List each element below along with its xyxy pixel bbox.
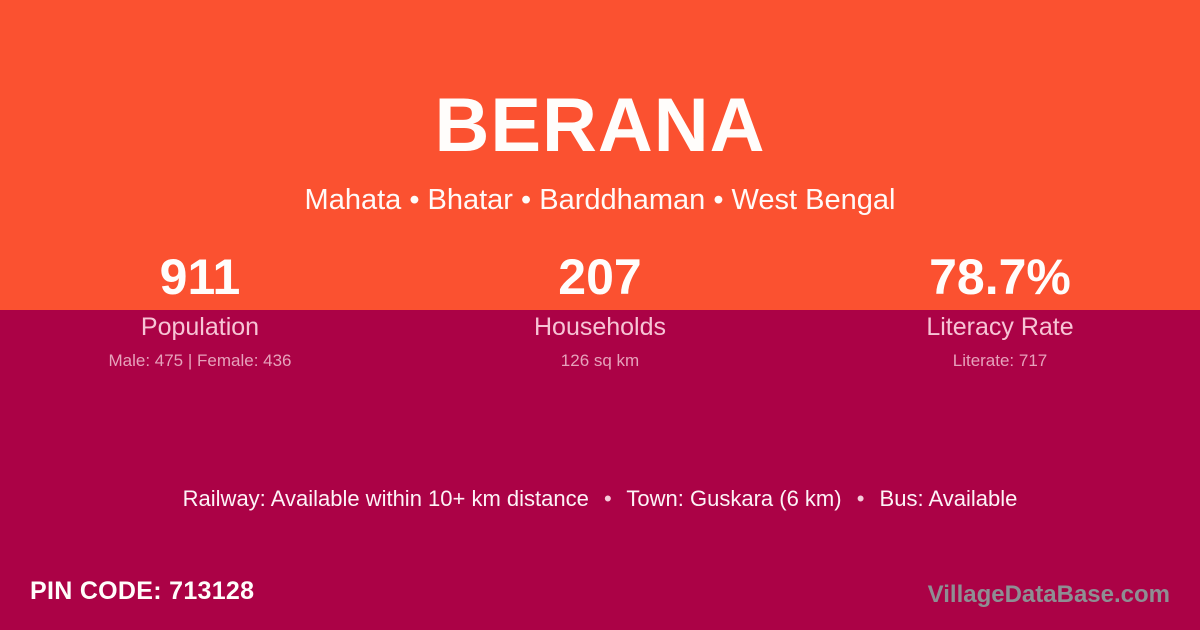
stat-households: 207 Households 126 sq km [400,246,800,372]
stat-sub-population: Male: 475 | Female: 436 [0,350,400,372]
railway-info: Railway: Available within 10+ km distanc… [183,486,589,511]
stat-value-literacy-rate: 78.7% [800,246,1200,308]
connectivity-line: Railway: Available within 10+ km distanc… [0,484,1200,514]
nearest-town-info: Town: Guskara (6 km) [626,486,841,511]
bus-info: Bus: Available [880,486,1018,511]
separator-bullet-icon: • [595,484,621,514]
breadcrumb: Mahata • Bhatar • Barddhaman • West Beng… [0,182,1200,218]
page-title: BERANA [0,84,1200,168]
pin-code: PIN CODE: 713128 [30,575,254,607]
stats-row: 911 Population Male: 475 | Female: 436 2… [0,246,1200,372]
stat-sub-households: 126 sq km [400,350,800,372]
stat-value-population: 911 [0,246,400,308]
stat-population: 911 Population Male: 475 | Female: 436 [0,246,400,372]
stat-label-population: Population [0,312,400,342]
stat-literacy-rate: 78.7% Literacy Rate Literate: 717 [800,246,1200,372]
separator-bullet-icon: • [848,484,874,514]
village-info-card: BERANA Mahata • Bhatar • Barddhaman • We… [0,0,1200,630]
stat-label-households: Households [400,312,800,342]
stat-label-literacy-rate: Literacy Rate [800,312,1200,342]
stat-sub-literacy-rate: Literate: 717 [800,350,1200,372]
brand-watermark: VillageDataBase.com [928,580,1170,610]
stat-value-households: 207 [400,246,800,308]
